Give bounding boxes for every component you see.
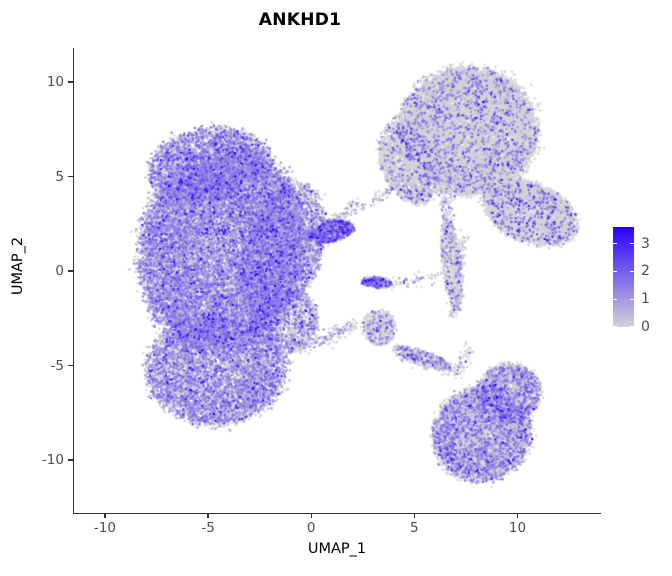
y-tick-label: -10 bbox=[42, 452, 64, 468]
x-tick-label: -5 bbox=[201, 520, 214, 536]
colorbar-legend bbox=[613, 227, 634, 327]
x-tick-mark bbox=[517, 513, 518, 518]
x-tick-mark bbox=[414, 513, 415, 518]
x-tick-label: 5 bbox=[410, 520, 419, 536]
colorbar-tick-label: 1 bbox=[641, 291, 650, 307]
y-tick-label: 5 bbox=[55, 169, 64, 185]
y-tick-mark bbox=[68, 365, 73, 366]
y-tick-label: -5 bbox=[51, 358, 64, 374]
page-title: ANKHD1 bbox=[0, 10, 600, 30]
y-tick-mark bbox=[68, 176, 73, 177]
colorbar-tick bbox=[611, 326, 617, 327]
x-axis-title: UMAP_1 bbox=[74, 541, 600, 557]
y-tick-label: 0 bbox=[55, 263, 64, 279]
colorbar-tick bbox=[630, 271, 636, 272]
colorbar-tick bbox=[611, 271, 617, 272]
colorbar-tick bbox=[611, 299, 617, 300]
colorbar-tick bbox=[630, 299, 636, 300]
scatter-points-canvas bbox=[74, 48, 600, 513]
scatter-plot-panel bbox=[74, 48, 600, 513]
x-axis-line bbox=[73, 513, 601, 514]
colorbar-tick-label: 0 bbox=[641, 319, 650, 335]
x-tick-mark bbox=[207, 513, 208, 518]
x-tick-label: -10 bbox=[94, 520, 116, 536]
colorbar-tick-label: 3 bbox=[641, 236, 650, 252]
y-tick-mark bbox=[68, 270, 73, 271]
x-tick-label: 0 bbox=[307, 520, 316, 536]
x-tick-label: 10 bbox=[509, 520, 526, 536]
y-axis-line bbox=[73, 48, 74, 514]
y-tick-label: 10 bbox=[47, 74, 64, 90]
x-tick-mark bbox=[311, 513, 312, 518]
y-axis-title: UMAP_2 bbox=[10, 196, 26, 336]
x-tick-mark bbox=[104, 513, 105, 518]
y-tick-mark bbox=[68, 81, 73, 82]
colorbar-tick bbox=[611, 243, 617, 244]
colorbar-gradient bbox=[613, 227, 634, 327]
colorbar-tick bbox=[630, 326, 636, 327]
umap-feature-plot: ANKHD1 1050-5-10 -10-50510 UMAP_1 UMAP_2… bbox=[0, 0, 672, 576]
colorbar-tick-label: 2 bbox=[641, 263, 650, 279]
colorbar-tick bbox=[630, 243, 636, 244]
y-tick-mark bbox=[68, 459, 73, 460]
